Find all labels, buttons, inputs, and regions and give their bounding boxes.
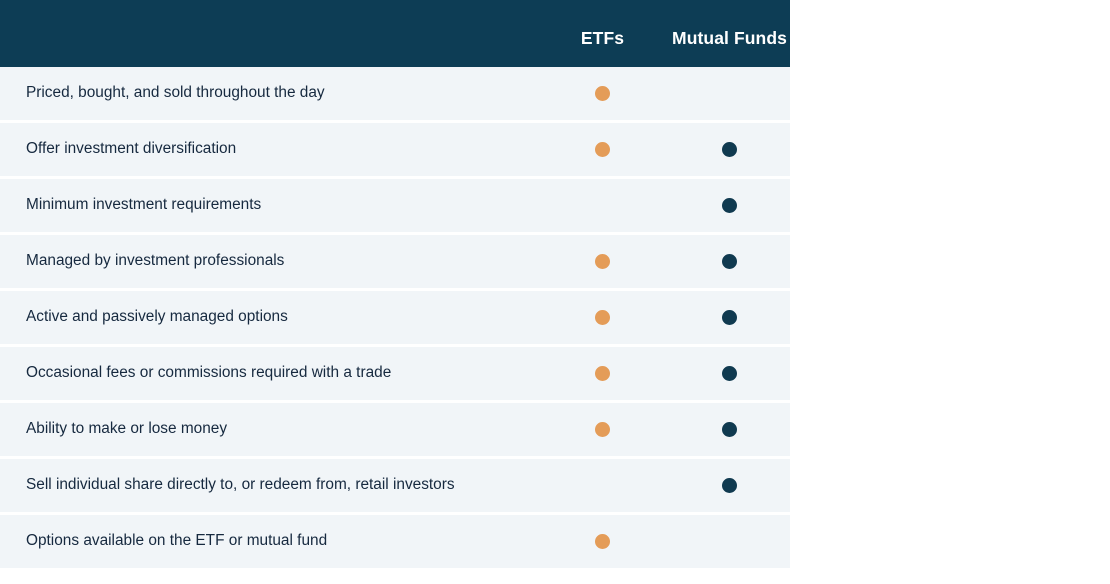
filled-circle-icon — [595, 254, 610, 269]
feature-label: Priced, bought, and sold throughout the … — [0, 84, 540, 102]
filled-circle-icon — [722, 310, 737, 325]
etf-cell — [540, 478, 665, 493]
mutual-fund-cell — [665, 366, 792, 381]
filled-circle-icon — [722, 422, 737, 437]
empty-marker — [722, 86, 737, 101]
etf-cell — [540, 366, 665, 381]
table-row: Options available on the ETF or mutual f… — [0, 515, 790, 568]
feature-label: Minimum investment requirements — [0, 196, 540, 214]
table-row: Offer investment diversification — [0, 123, 790, 179]
filled-circle-icon — [595, 310, 610, 325]
feature-label: Sell individual share directly to, or re… — [0, 476, 540, 494]
filled-circle-icon — [722, 198, 737, 213]
empty-marker — [595, 478, 610, 493]
feature-label: Options available on the ETF or mutual f… — [0, 532, 540, 550]
filled-circle-icon — [595, 422, 610, 437]
mutual-fund-cell — [665, 198, 792, 213]
table-header-row: ETFs Mutual Funds — [0, 0, 790, 67]
mutual-fund-cell — [665, 86, 792, 101]
mutual-fund-cell — [665, 534, 792, 549]
filled-circle-icon — [722, 366, 737, 381]
mutual-fund-cell — [665, 310, 792, 325]
etf-cell — [540, 534, 665, 549]
filled-circle-icon — [595, 142, 610, 157]
column-header-mutual-funds: Mutual Funds — [665, 28, 792, 67]
feature-label: Active and passively managed options — [0, 308, 540, 326]
column-header-etfs: ETFs — [540, 28, 665, 67]
empty-marker — [595, 198, 610, 213]
etf-cell — [540, 86, 665, 101]
mutual-fund-cell — [665, 478, 792, 493]
table-row: Ability to make or lose money — [0, 403, 790, 459]
table-row: Sell individual share directly to, or re… — [0, 459, 790, 515]
etf-vs-mutual-fund-comparison-table: ETFs Mutual Funds Priced, bought, and so… — [0, 0, 790, 584]
filled-circle-icon — [595, 366, 610, 381]
etf-cell — [540, 422, 665, 437]
etf-cell — [540, 142, 665, 157]
feature-label: Ability to make or lose money — [0, 420, 540, 438]
feature-label: Offer investment diversification — [0, 140, 540, 158]
filled-circle-icon — [722, 478, 737, 493]
mutual-fund-cell — [665, 142, 792, 157]
etf-cell — [540, 198, 665, 213]
feature-label: Managed by investment professionals — [0, 252, 540, 270]
filled-circle-icon — [595, 86, 610, 101]
etf-cell — [540, 254, 665, 269]
table-row: Active and passively managed options — [0, 291, 790, 347]
mutual-fund-cell — [665, 422, 792, 437]
filled-circle-icon — [722, 142, 737, 157]
feature-label: Occasional fees or commissions required … — [0, 364, 540, 382]
etf-cell — [540, 310, 665, 325]
table-row: Occasional fees or commissions required … — [0, 347, 790, 403]
table-row: Managed by investment professionals — [0, 235, 790, 291]
table-row: Minimum investment requirements — [0, 179, 790, 235]
empty-marker — [722, 534, 737, 549]
table-row: Priced, bought, and sold throughout the … — [0, 67, 790, 123]
filled-circle-icon — [595, 534, 610, 549]
filled-circle-icon — [722, 254, 737, 269]
table-body: Priced, bought, and sold throughout the … — [0, 67, 790, 568]
mutual-fund-cell — [665, 254, 792, 269]
